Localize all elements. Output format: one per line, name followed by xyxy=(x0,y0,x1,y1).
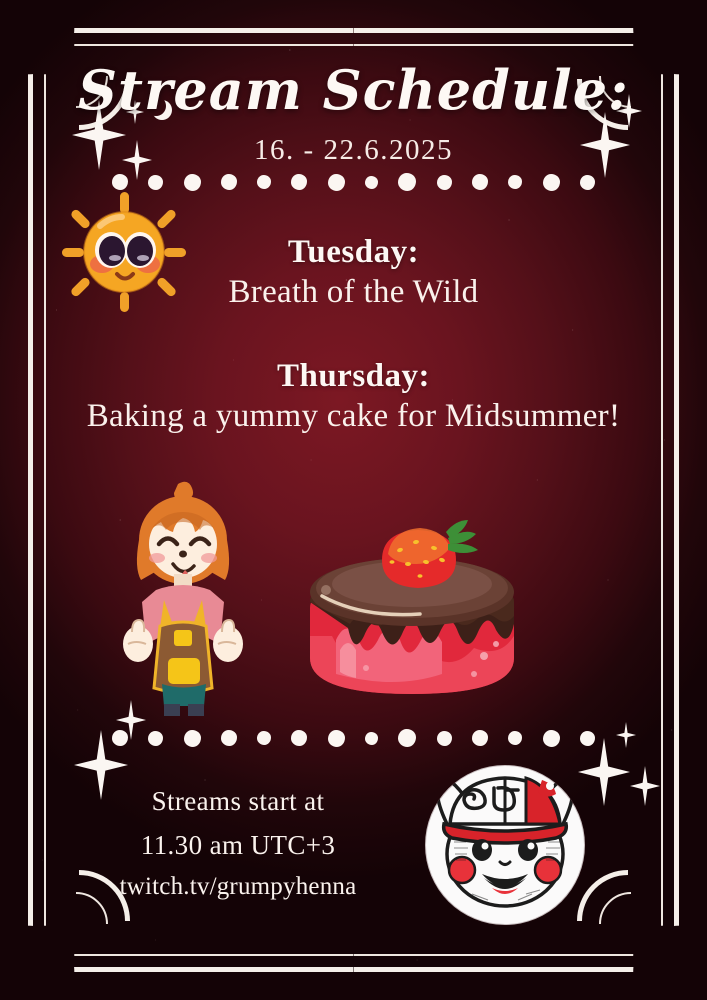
chocolate-strawberry-cake-icon xyxy=(296,516,528,716)
date-range: 16. - 22.6.2025 xyxy=(0,134,707,167)
divider-dot xyxy=(437,731,452,746)
divider-dot xyxy=(112,730,128,746)
dotted-divider-top xyxy=(112,172,595,192)
footer-info: Streams start at 11.30 am UTC+3 twitch.t… xyxy=(92,780,384,908)
divider-dot xyxy=(398,173,416,191)
divider-dot xyxy=(291,730,307,746)
schedule-entry-thursday: Thursday: Baking a yummy cake for Midsum… xyxy=(0,358,707,435)
divider-dot xyxy=(365,732,378,745)
day-description-thursday: Baking a yummy cake for Midsummer! xyxy=(86,397,621,435)
divider-dot xyxy=(437,175,452,190)
divider-dot xyxy=(580,175,595,190)
twitch-handle[interactable]: twitch.tv/grumpyhenna xyxy=(92,867,384,908)
divider-dot xyxy=(291,174,307,190)
day-description-tuesday: Breath of the Wild xyxy=(0,273,707,311)
divider-dot xyxy=(328,174,345,191)
stream-schedule-poster: Stream Schedule: 16. - 22.6.2025 xyxy=(0,0,707,1000)
divider-dot xyxy=(508,731,522,745)
divider-dot xyxy=(472,174,488,190)
day-label-tuesday: Tuesday: xyxy=(0,234,707,271)
divider-dot xyxy=(257,731,271,745)
divider-dot xyxy=(184,730,201,747)
divider-dot xyxy=(543,174,560,191)
divider-dot xyxy=(257,175,271,189)
divider-dot xyxy=(221,174,237,190)
divider-dot xyxy=(184,174,201,191)
inner-frame-corner-arc-bottom-right xyxy=(599,892,663,956)
sparkle-icon xyxy=(630,766,660,806)
divider-dot xyxy=(365,176,378,189)
divider-dot xyxy=(508,175,522,189)
footer-line-1: Streams start at xyxy=(92,780,384,824)
divider-dot xyxy=(112,174,128,190)
baker-character-thumbs-up-icon xyxy=(112,478,254,718)
divider-dot xyxy=(580,731,595,746)
schedule-entry-tuesday: Tuesday: Breath of the Wild xyxy=(0,234,707,311)
sparkle-icon xyxy=(116,700,146,740)
footer-line-2: 11.30 am UTC+3 xyxy=(92,824,384,868)
pikachu-cap-avatar-icon xyxy=(422,762,588,928)
divider-dot xyxy=(398,729,416,747)
divider-dot xyxy=(472,730,488,746)
sparkle-icon xyxy=(578,738,630,806)
dotted-divider-bottom xyxy=(112,728,595,748)
divider-dot xyxy=(221,730,237,746)
page-title: Stream Schedule: xyxy=(0,58,707,122)
divider-dot xyxy=(148,731,163,746)
divider-dot xyxy=(328,730,345,747)
sparkle-icon xyxy=(616,722,636,748)
divider-dot xyxy=(148,175,163,190)
divider-dot xyxy=(543,730,560,747)
day-label-thursday: Thursday: xyxy=(86,358,621,395)
